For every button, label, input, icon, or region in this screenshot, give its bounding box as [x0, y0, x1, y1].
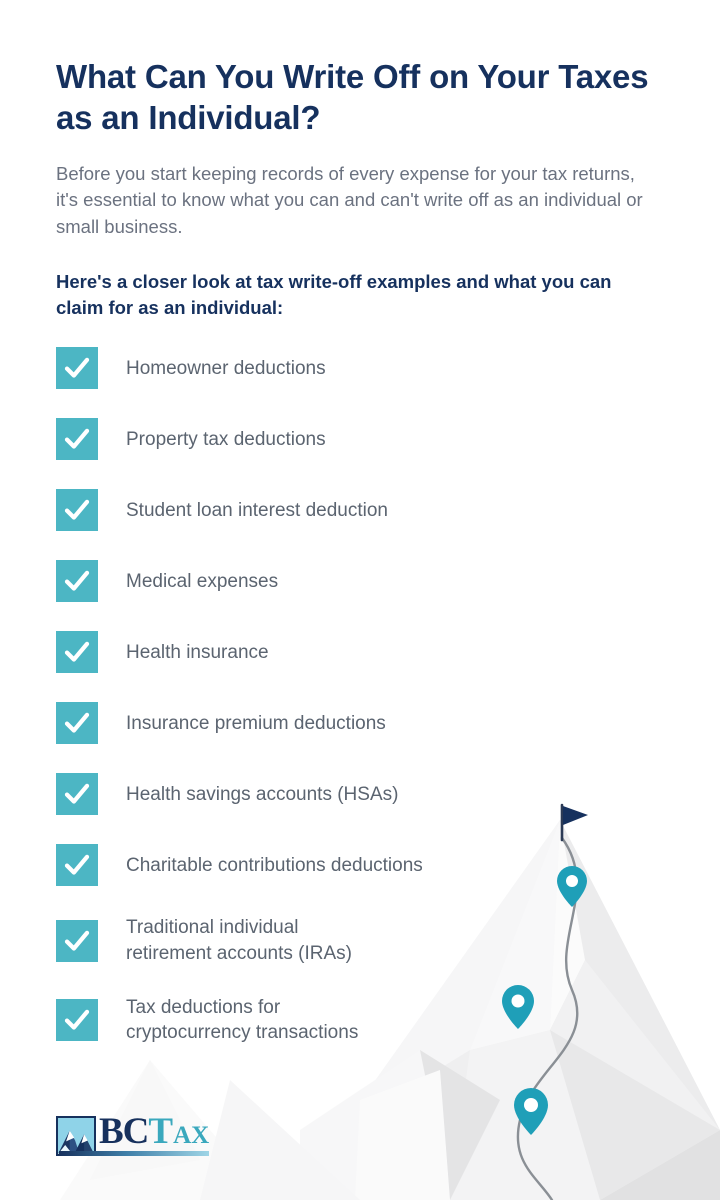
list-item[interactable]: Traditional individual retirement accoun…	[56, 915, 664, 965]
checkmark-icon[interactable]	[56, 920, 98, 962]
list-item[interactable]: Health insurance	[56, 631, 664, 673]
mountain-icon	[56, 1116, 96, 1156]
list-item[interactable]: Homeowner deductions	[56, 347, 664, 389]
bctax-logo[interactable]: BCTAX	[56, 1113, 209, 1156]
list-item[interactable]: Tax deductions for cryptocurrency transa…	[56, 995, 664, 1045]
checkmark-icon[interactable]	[56, 418, 98, 460]
list-item-label: Health savings accounts (HSAs)	[126, 782, 398, 807]
list-item[interactable]: Insurance premium deductions	[56, 702, 664, 744]
intro-paragraph: Before you start keeping records of ever…	[56, 161, 646, 241]
infographic-canvas: What Can You Write Off on Your Taxes as …	[0, 0, 720, 1200]
logo-underline	[59, 1151, 209, 1156]
checkmark-icon[interactable]	[56, 631, 98, 673]
list-item-label: Property tax deductions	[126, 427, 326, 452]
list-item[interactable]: Student loan interest deduction	[56, 489, 664, 531]
checkmark-icon[interactable]	[56, 702, 98, 744]
list-item-label: Medical expenses	[126, 569, 278, 594]
checkmark-icon[interactable]	[56, 773, 98, 815]
list-item[interactable]: Charitable contributions deductions	[56, 844, 664, 886]
content-column: What Can You Write Off on Your Taxes as …	[0, 0, 720, 1045]
list-item-label: Insurance premium deductions	[126, 711, 386, 736]
logo-text-t: T	[148, 1111, 173, 1152]
list-item-label: Health insurance	[126, 640, 269, 665]
list-item-label: Student loan interest deduction	[126, 498, 388, 523]
list-item[interactable]: Health savings accounts (HSAs)	[56, 773, 664, 815]
lead-in-text: Here's a closer look at tax write-off ex…	[56, 269, 636, 322]
list-item-label: Homeowner deductions	[126, 356, 326, 381]
list-item[interactable]: Property tax deductions	[56, 418, 664, 460]
checkmark-icon[interactable]	[56, 999, 98, 1041]
list-item-label: Traditional individual retirement accoun…	[126, 915, 352, 965]
map-pin-icon	[514, 1088, 548, 1135]
checkmark-icon[interactable]	[56, 489, 98, 531]
checkmark-icon[interactable]	[56, 844, 98, 886]
list-item[interactable]: Medical expenses	[56, 560, 664, 602]
list-item-label: Tax deductions for cryptocurrency transa…	[126, 995, 358, 1045]
checkmark-icon[interactable]	[56, 347, 98, 389]
logo-text-ax: AX	[173, 1122, 209, 1149]
deduction-checklist: Homeowner deductions Property tax deduct…	[56, 347, 664, 1044]
logo-text-bc: BC	[99, 1111, 148, 1152]
list-item-label: Charitable contributions deductions	[126, 853, 423, 878]
checkmark-icon[interactable]	[56, 560, 98, 602]
logo-wordmark: BCTAX	[99, 1113, 209, 1156]
page-title: What Can You Write Off on Your Taxes as …	[56, 0, 664, 139]
